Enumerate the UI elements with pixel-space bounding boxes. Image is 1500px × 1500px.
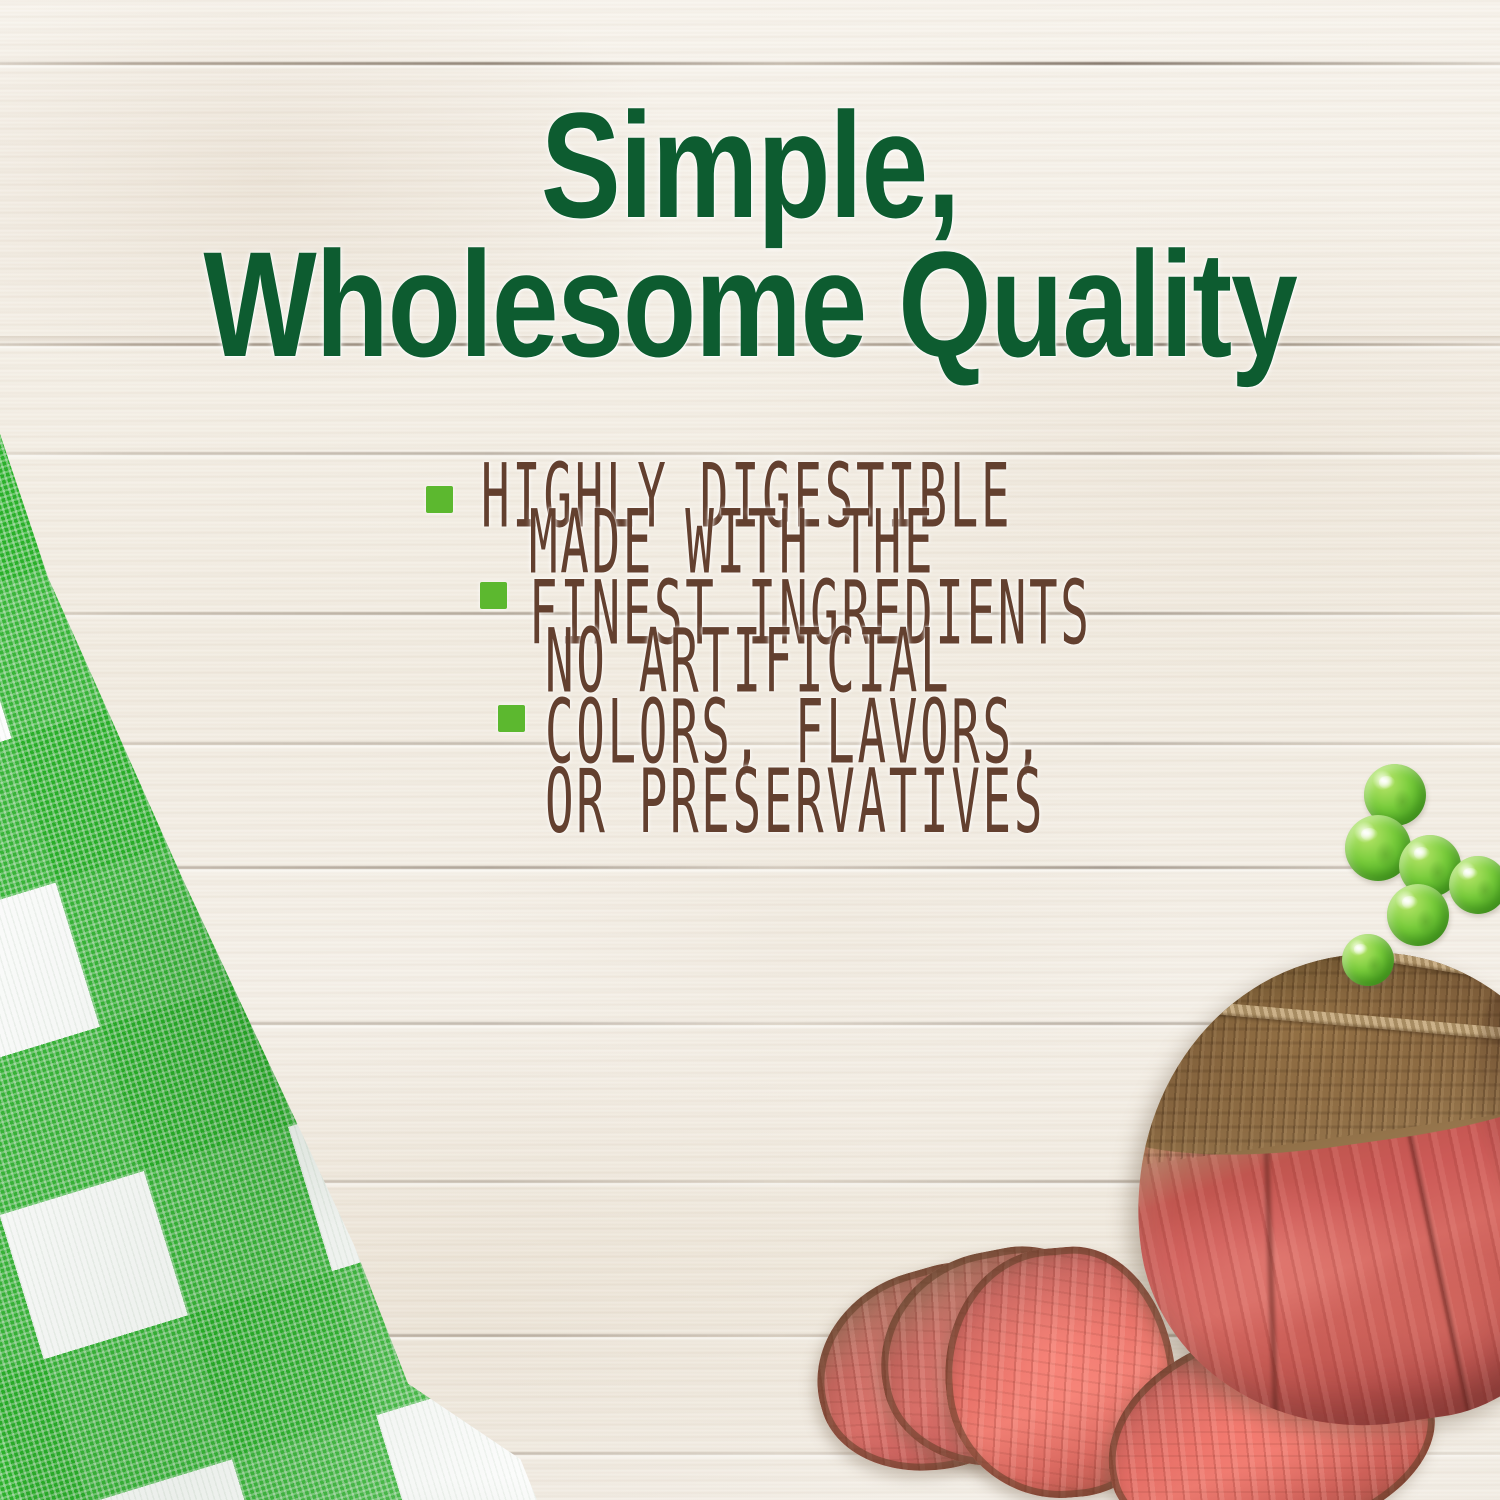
feature-bullet-list: Highly Digestible Made with the Finest I… bbox=[418, 462, 1158, 800]
pea bbox=[1449, 856, 1500, 914]
square-bullet-icon bbox=[498, 705, 525, 732]
pea bbox=[1342, 934, 1394, 986]
bullet-item-no-artificial: No Artificial Colors, Flavors, or Preser… bbox=[418, 679, 1158, 800]
bullet-text: No Artificial Colors, Flavors, or Preser… bbox=[545, 627, 1045, 838]
pea bbox=[1387, 884, 1449, 946]
product-feature-banner: Simple, Wholesome Quality Highly Digesti… bbox=[0, 0, 1500, 1500]
square-bullet-icon bbox=[480, 582, 507, 609]
square-bullet-icon bbox=[426, 486, 453, 513]
